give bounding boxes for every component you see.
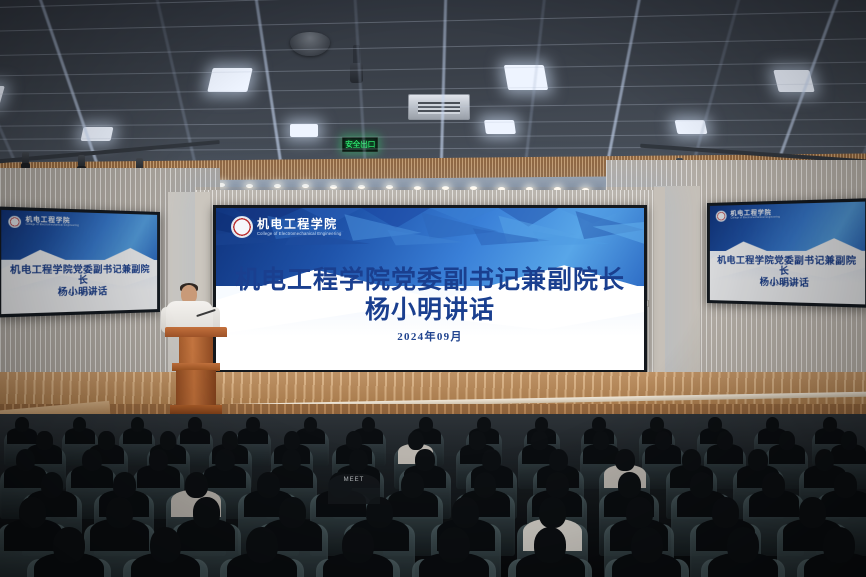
audience-head: [727, 527, 759, 563]
audience-head: [690, 472, 713, 498]
display-left[interactable]: 机电工程学院 College of Electromechanical Engi…: [0, 206, 160, 317]
audience-head: [222, 431, 238, 450]
audience-head: [304, 417, 318, 433]
college-seal-icon: [716, 210, 727, 221]
audience-head: [98, 431, 114, 450]
audience-tshirt-text: MEET: [328, 474, 380, 504]
audience-head: [539, 497, 566, 528]
slide-logo: 机电工程学院 College of Electromechanical Engi…: [8, 215, 79, 229]
audience-head: [549, 449, 568, 471]
ceiling-panel-light: [290, 124, 318, 137]
audience-head: [546, 472, 569, 498]
audience-head: [474, 472, 497, 498]
audience-head: [150, 527, 182, 563]
audience-head: [415, 449, 434, 471]
audience-head: [279, 497, 306, 528]
ceiling-grid-line: [0, 57, 866, 80]
slide-logo-en: College of Electromechanical Engineering: [730, 216, 780, 219]
podium-foot: [170, 405, 222, 414]
audience-head: [708, 417, 722, 433]
audience-head: [482, 449, 501, 471]
podium-top: [165, 327, 227, 337]
slide-title-line2: 杨小明讲话: [229, 296, 631, 326]
audience-head: [284, 431, 300, 450]
audience-head: [438, 527, 470, 563]
dome-camera-icon: [290, 32, 330, 56]
audience-head: [149, 449, 168, 471]
audience-head: [841, 431, 857, 450]
audience-head: [618, 472, 641, 498]
slide-main: 机电工程学院 College of Electromechanical Engi…: [216, 208, 644, 370]
audience-head: [452, 497, 479, 528]
audience-head: [469, 431, 485, 450]
audience-head: [349, 449, 368, 471]
audience-head: [477, 417, 491, 433]
audience-head: [131, 417, 145, 433]
wall-pillar-right: [654, 186, 700, 401]
audience-head: [717, 431, 733, 450]
audience-head: [82, 449, 101, 471]
audience-head: [766, 417, 780, 433]
slide-title-line1: 机电工程学院党委副书记兼副院长: [6, 264, 152, 288]
audience-head: [342, 527, 374, 563]
audience-head: [16, 449, 35, 471]
audience-head: [682, 449, 701, 471]
ceiling-grid-line: [0, 33, 866, 61]
display-right[interactable]: 机电工程学院 College of Electromechanical Engi…: [707, 198, 866, 308]
audience-head: [246, 417, 260, 433]
college-seal-icon: [8, 215, 21, 227]
audience-head: [531, 431, 547, 450]
audience-head: [362, 417, 376, 433]
audience-head: [626, 497, 653, 528]
track-spotlight-icon: [22, 152, 29, 165]
slide-right: 机电工程学院 College of Electromechanical Engi…: [710, 202, 865, 305]
audience-head: [779, 431, 795, 450]
main-led-screen[interactable]: 机电工程学院 College of Electromechanical Engi…: [213, 205, 647, 373]
audience-head: [160, 431, 176, 450]
audience-head: [799, 497, 826, 528]
audience-head: [593, 431, 609, 450]
ceiling-panel-light: [0, 86, 5, 106]
audience-head: [535, 417, 549, 433]
audience-head: [408, 431, 424, 450]
audience-head: [650, 417, 664, 433]
audience-head: [631, 527, 663, 563]
ceiling-grid-line: [0, 132, 866, 142]
slide-logo-en: College of Electromechanical Engineering: [25, 224, 78, 228]
audience-head: [762, 472, 785, 498]
audience-head: [282, 449, 301, 471]
audience-head: [73, 417, 87, 433]
recessed-downlight-icon: [330, 185, 337, 189]
audience-head: [823, 527, 855, 563]
audience-head: [834, 472, 857, 498]
audience-head: [712, 497, 739, 528]
audience-head: [534, 527, 566, 563]
college-seal-icon: [231, 216, 253, 238]
audience-head: [193, 497, 220, 528]
slide-title-line1: 机电工程学院党委副书记兼副院长: [714, 255, 860, 278]
slide-left: 机电工程学院 College of Electromechanical Engi…: [1, 210, 157, 314]
audience-head: [19, 497, 46, 528]
audience-head: [106, 497, 133, 528]
slide-date-main: 2024年09月: [216, 328, 644, 344]
auditorium-photo: 安全出口 机电工程学院 College of Electromechanical…: [0, 0, 866, 577]
audience-head: [36, 431, 52, 450]
audience-head: [592, 417, 606, 433]
audience-seating: MEET: [0, 414, 866, 577]
audience-head: [419, 417, 433, 433]
audience-head: [401, 472, 424, 498]
recessed-downlight-icon: [246, 184, 253, 188]
podium-neck: [179, 337, 213, 363]
audience-head: [185, 472, 208, 498]
audience-head: [823, 417, 837, 433]
audience-head: [346, 431, 362, 450]
audience-head: [15, 417, 29, 433]
audience-head: [748, 449, 767, 471]
audience-head: [257, 472, 280, 498]
audience-head: [815, 449, 834, 471]
audience-head: [188, 417, 202, 433]
audience-head: [41, 472, 64, 498]
audience-head: [53, 527, 85, 563]
audience-head: [655, 431, 671, 450]
slide-logo-cn: 机电工程学院: [257, 218, 341, 230]
slide-logo: 机电工程学院 College of Electromechanical Engi…: [231, 216, 341, 238]
audience-head: [113, 472, 136, 498]
slide-title-main: 机电工程学院党委副书记兼副院长 杨小明讲话: [229, 266, 631, 325]
audience-head: [615, 449, 634, 471]
audience-head: [246, 527, 278, 563]
slide-logo: 机电工程学院 College of Electromechanical Engi…: [716, 209, 780, 222]
emergency-exit-icon: 安全出口: [342, 137, 378, 152]
slide-logo-en: College of Electromechanical Engineering: [257, 232, 341, 236]
slide-title-line1: 机电工程学院党委副书记兼副院长: [229, 266, 631, 296]
audience-head: [215, 449, 234, 471]
track-spotlight-icon: [78, 155, 85, 168]
